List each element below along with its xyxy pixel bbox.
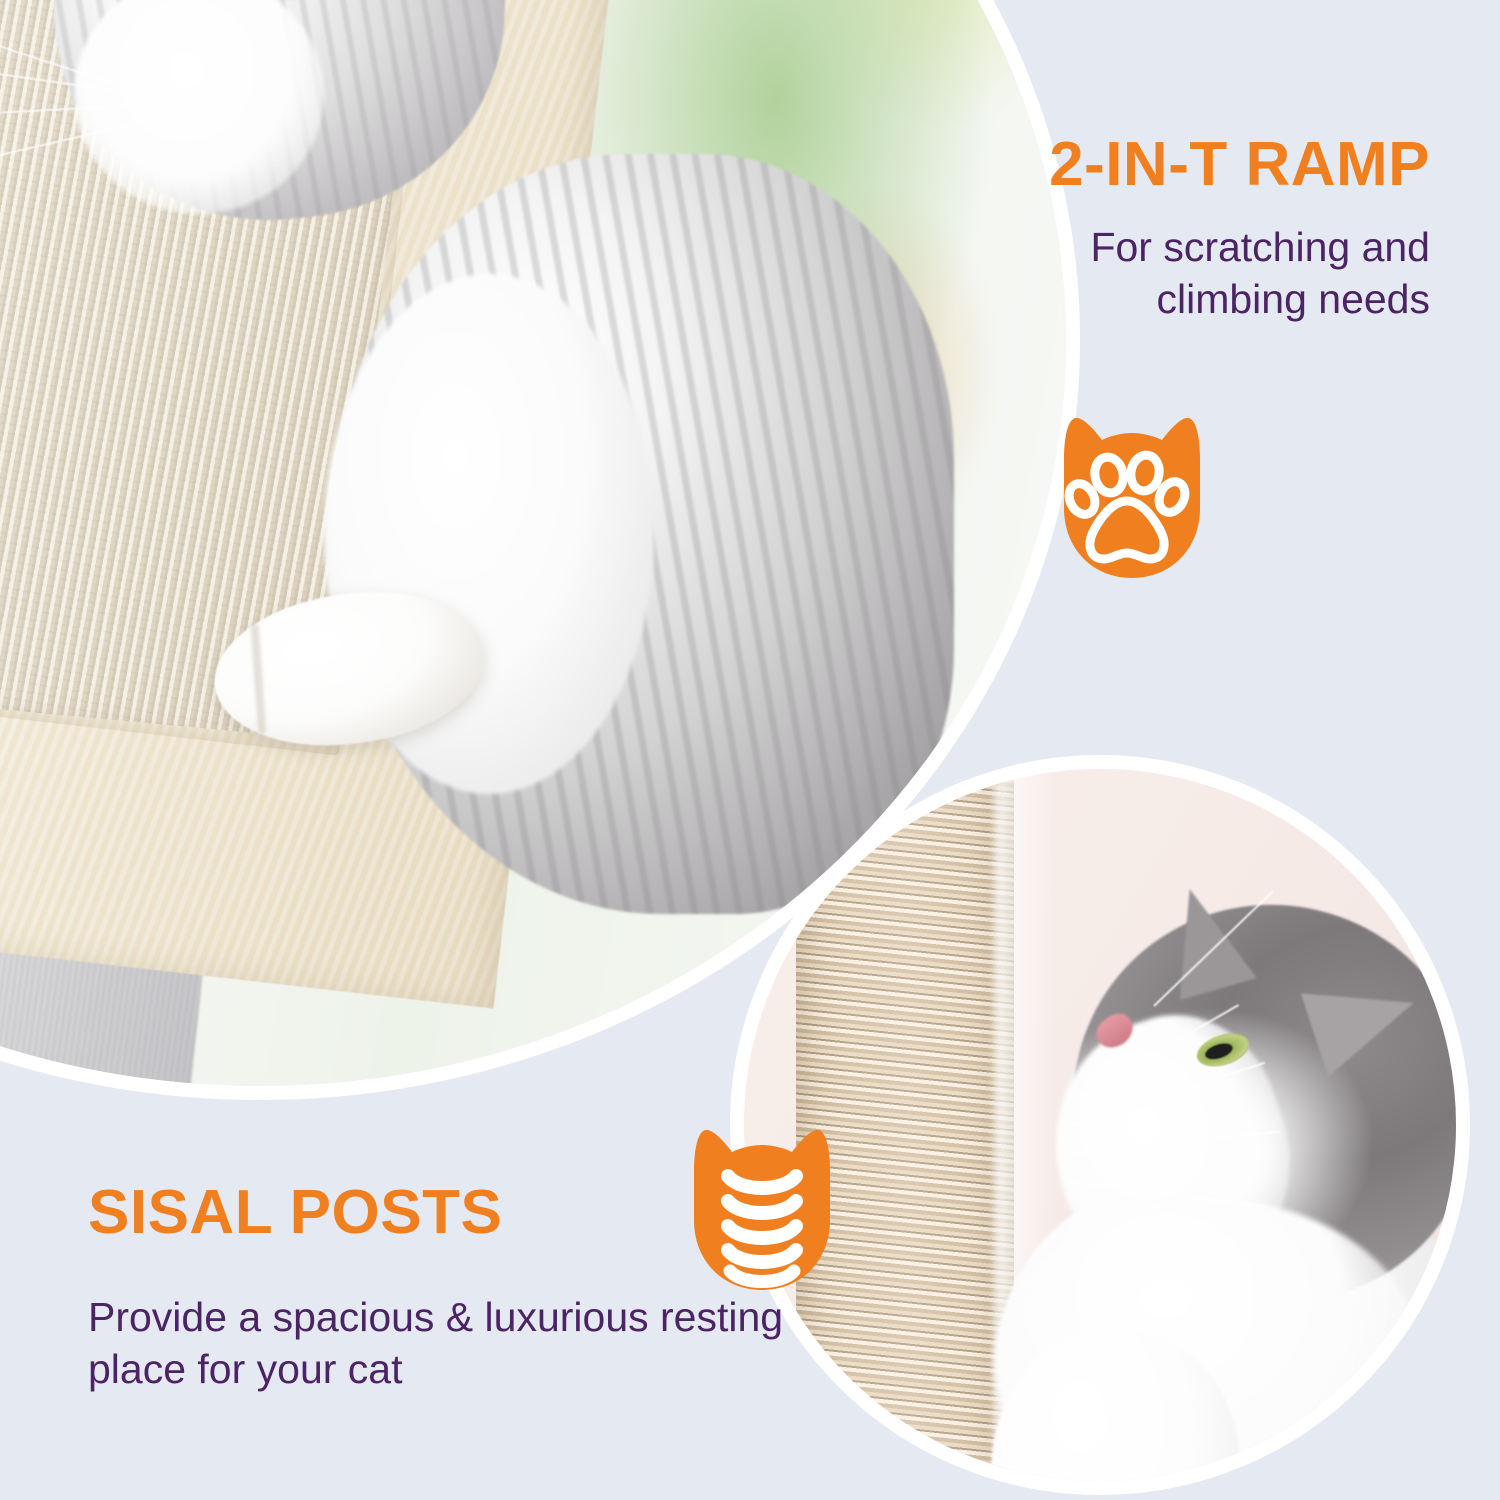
ramp-feature-text: 2-IN-T RAMP For scratching and climbing … [950, 134, 1430, 325]
sisal-description: Provide a spacious & luxurious resting p… [88, 1292, 848, 1395]
ramp-photo [0, 0, 1080, 1100]
paw-print-badge [1052, 416, 1212, 584]
rope-coil-badge [682, 1128, 842, 1296]
photo-scene [0, 0, 1066, 1086]
paw-print-icon [1052, 416, 1212, 584]
rope-coil-icon [682, 1128, 842, 1296]
ramp-description: For scratching and climbing needs [950, 222, 1430, 325]
product-feature-banner: 2-IN-T RAMP For scratching and climbing … [0, 0, 1500, 1500]
ramp-heading: 2-IN-T RAMP [950, 134, 1430, 196]
